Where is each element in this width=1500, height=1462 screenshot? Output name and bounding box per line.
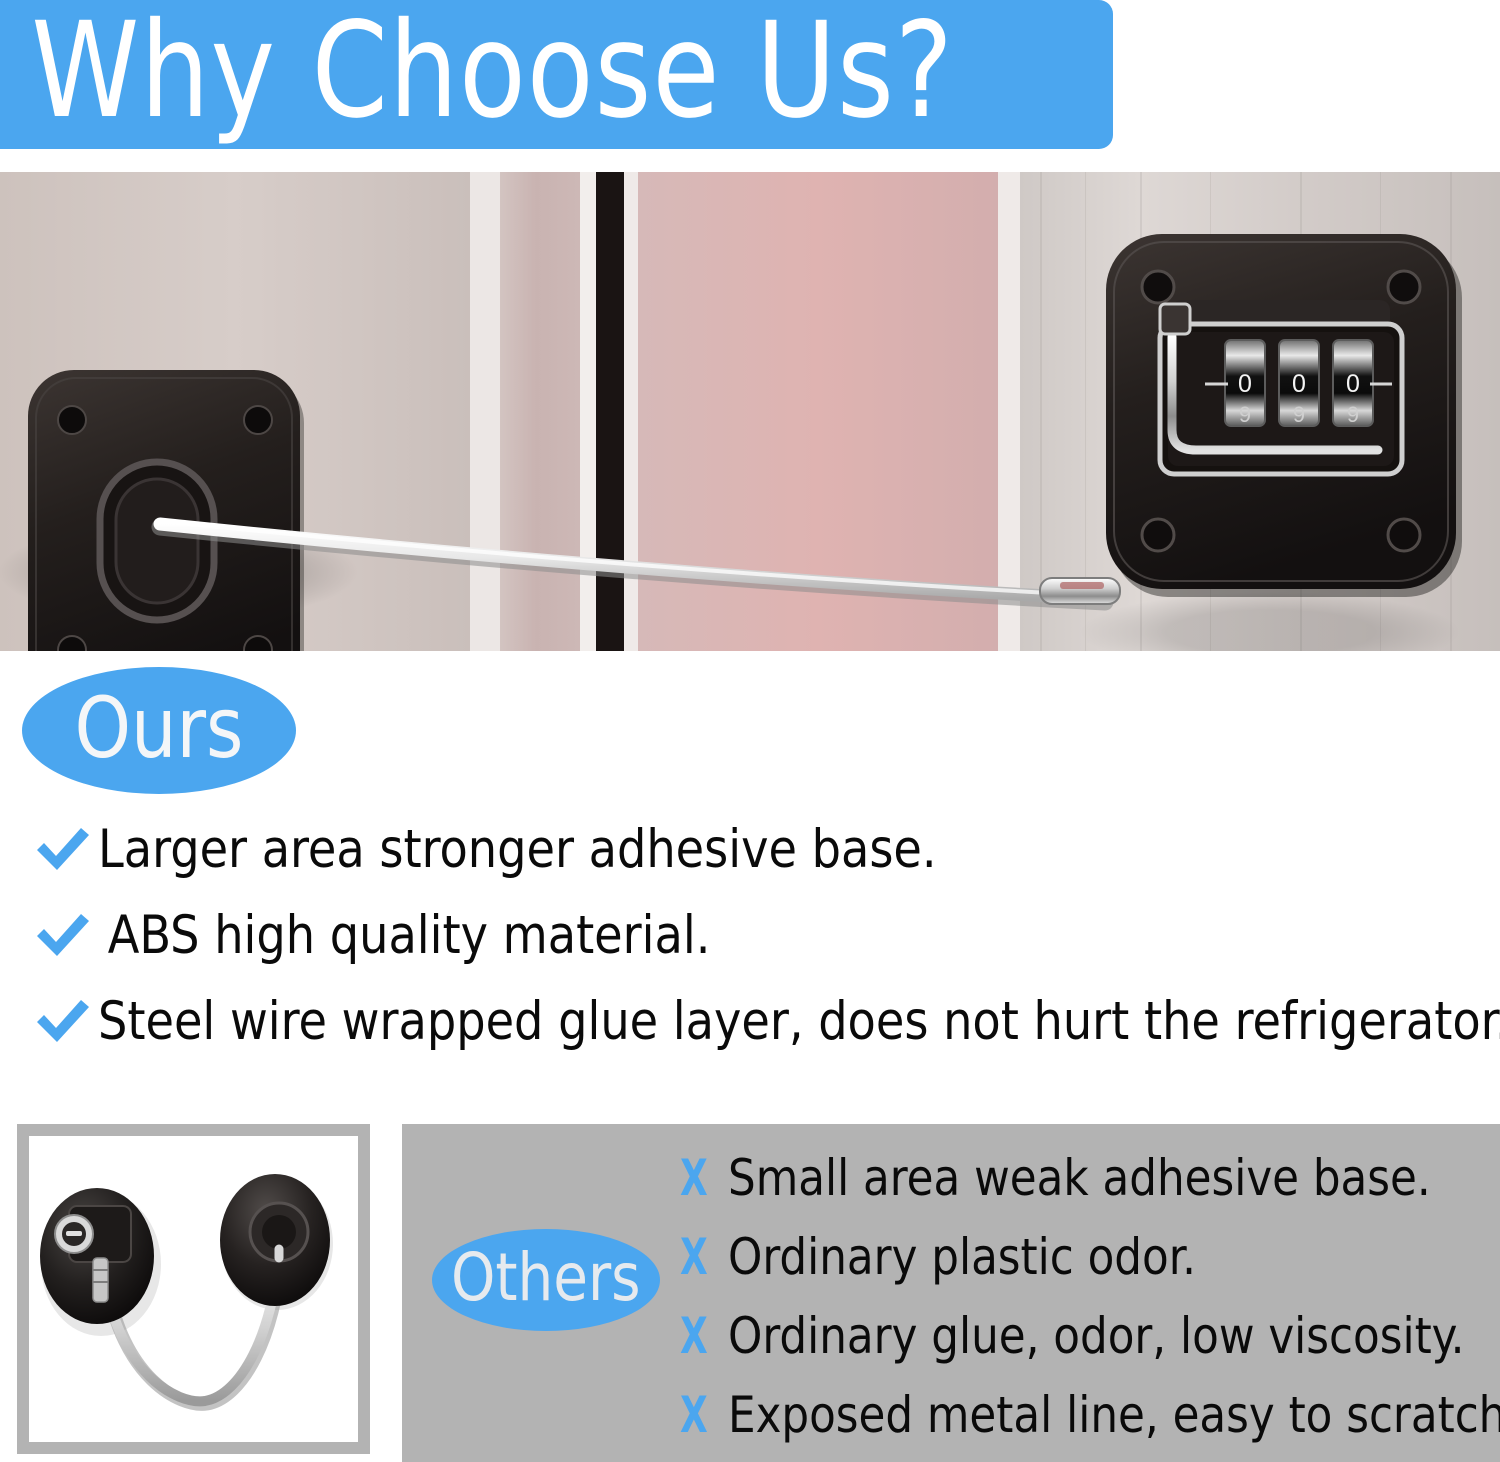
list-item: Steel wire wrapped glue layer, does not … [28,978,1468,1064]
list-item-label: Larger area stronger adhesive base. [98,823,937,876]
list-item-label: Ordinary plastic odor. [728,1232,1196,1282]
check-icon [28,912,98,958]
list-item: ABS high quality material. [28,892,1468,978]
svg-text:0: 0 [1292,370,1306,398]
x-icon: X [680,1390,718,1440]
list-item-label: Ordinary glue, odor, low viscosity. [728,1311,1464,1361]
competitor-photo-illustration [29,1136,358,1442]
svg-text:0: 0 [1238,370,1252,398]
list-item: X Exposed metal line, easy to scratch. [680,1375,1490,1454]
x-icon: X [680,1232,718,1282]
header-banner: Why Choose Us? [0,0,1113,149]
list-item: X Small area weak adhesive base. [680,1138,1490,1217]
ours-badge-label: Ours [75,686,244,770]
x-icon: X [680,1153,718,1203]
svg-text:0: 0 [1346,370,1360,398]
page-title: Why Choose Us? [0,5,954,137]
x-icon: X [680,1311,718,1361]
ours-badge: Ours [22,667,296,794]
hero-photo-illustration: 0 0 0 9 9 9 [0,172,1500,651]
list-item: Larger area stronger adhesive base. [28,806,1468,892]
list-item: X Ordinary glue, odor, low viscosity. [680,1296,1490,1375]
list-item: X Ordinary plastic odor. [680,1217,1490,1296]
competitor-photo-frame [17,1124,370,1454]
others-drawbacks-list: X Small area weak adhesive base. X Ordin… [680,1138,1490,1454]
others-badge-label: Others [451,1245,641,1311]
hero-product-photo: 0 0 0 9 9 9 [0,172,1500,651]
list-item-label: Exposed metal line, easy to scratch. [728,1390,1500,1440]
check-icon [28,826,98,872]
svg-text:9: 9 [1347,402,1359,427]
list-item-label: Small area weak adhesive base. [728,1153,1431,1203]
svg-text:9: 9 [1293,402,1305,427]
list-item-label: Steel wire wrapped glue layer, does not … [98,995,1500,1048]
ours-benefits-list: Larger area stronger adhesive base. ABS … [28,806,1468,1064]
check-icon [28,998,98,1044]
others-badge: Others [432,1229,660,1331]
others-panel: Others X Small area weak adhesive base. … [402,1124,1500,1462]
list-item-label: ABS high quality material. [98,909,710,962]
competitor-product-photo [29,1136,358,1442]
svg-text:9: 9 [1239,402,1251,427]
